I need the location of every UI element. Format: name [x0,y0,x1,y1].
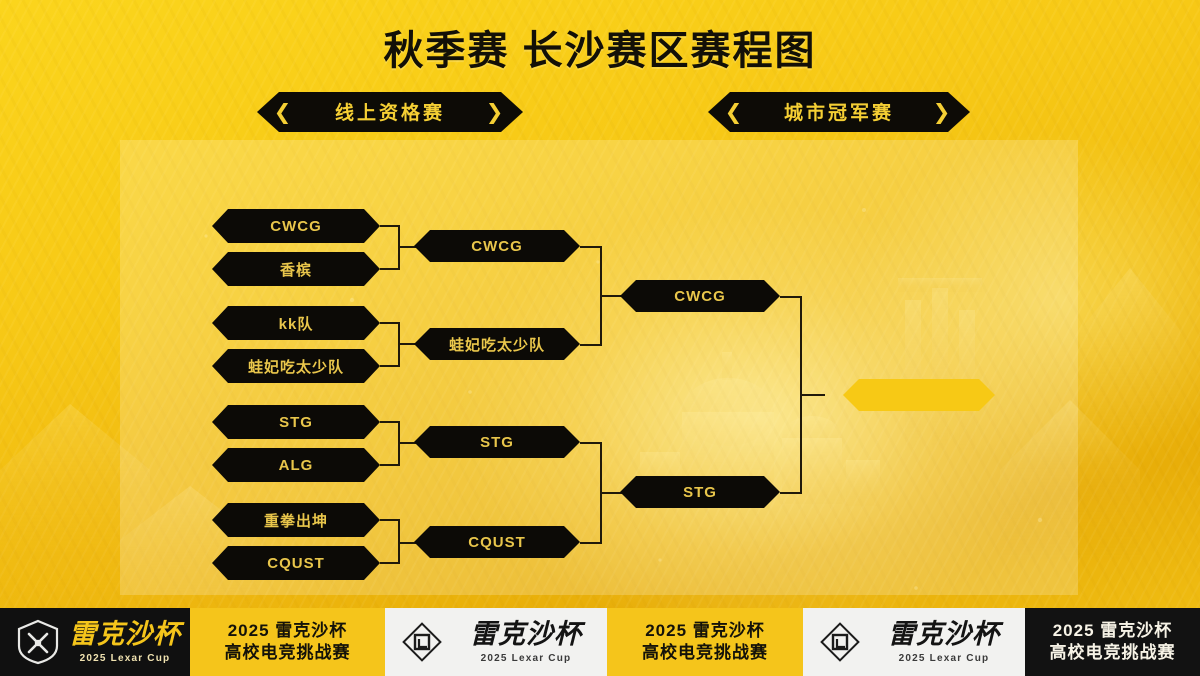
connector [380,421,400,423]
diamond-emblem-icon [401,619,445,665]
bracket-node-champion[interactable] [843,379,995,411]
footer-title-line2: 高校电竞挑战赛 [642,642,768,664]
connector [398,343,416,345]
lexar-logo-en: 2025 Lexar Cup [80,653,171,664]
connector [380,225,400,227]
footer-logo-segment-2: 雷克沙杯 2025 Lexar Cup [385,608,607,676]
footer-logo-segment-1: 雷克沙杯 2025 Lexar Cup [0,608,190,676]
bracket-node-r2-3[interactable]: STG [414,426,580,458]
lexar-logo-en: 2025 Lexar Cup [899,653,990,664]
footer-title-line1: 2025 雷克沙杯 [645,620,765,642]
connector [780,492,802,494]
bracket-node-r2-4[interactable]: CQUST [414,526,580,558]
connector [380,519,400,521]
lexar-logo-cn: 雷克沙杯 [470,621,582,648]
bracket-node-r1-2[interactable]: 香槟 [212,252,380,286]
section-banner-label: 线上资格赛 [301,98,479,125]
bracket-node-r3-1[interactable]: CWCG [620,280,780,312]
footer-title-line1: 2025 雷克沙杯 [228,620,348,642]
section-banner-label: 城市冠军赛 [750,98,928,125]
footer-title-line2: 高校电竞挑战赛 [225,642,351,664]
connector [580,542,602,544]
connector [600,492,622,494]
connector [380,562,400,564]
connector [398,542,416,544]
connector [380,322,400,324]
chevron-left-icon: ❮ [722,92,748,132]
connector [600,295,622,297]
bracket-node-r1-8[interactable]: CQUST [212,546,380,580]
connector [580,344,602,346]
bracket-node-r1-5[interactable]: STG [212,405,380,439]
chevron-right-icon: ❯ [483,92,509,132]
page-title: 秋季赛 长沙赛区赛程图 [0,18,1200,76]
connector [580,442,602,444]
shield-crossed-swords-icon [16,619,60,665]
footer-text-segment-2: 2025 雷克沙杯 高校电竞挑战赛 [607,608,803,676]
lexar-cup-logo: 雷克沙杯 2025 Lexar Cup [60,621,190,664]
connector [580,246,602,248]
lexar-logo-cn: 雷克沙杯 [69,621,181,648]
footer-title-line1: 2025 雷克沙杯 [1053,620,1173,642]
section-banner-online-qualifier: ❮ 线上资格赛 ❯ [257,92,523,132]
chevron-right-icon: ❯ [930,92,956,132]
bracket-node-r1-7[interactable]: 重拳出坤 [212,503,380,537]
connector [380,268,400,270]
lexar-logo-cn: 雷克沙杯 [888,621,1000,648]
connector [380,365,400,367]
connector [380,464,400,466]
connector [398,246,416,248]
sponsor-footer: 雷克沙杯 2025 Lexar Cup 2025 雷克沙杯 高校电竞挑战赛 雷克… [0,608,1200,676]
chevron-left-icon: ❮ [271,92,297,132]
section-banner-city-championship: ❮ 城市冠军赛 ❯ [708,92,970,132]
footer-title-line2: 高校电竞挑战赛 [1050,642,1176,664]
connector [398,442,416,444]
footer-text-segment-3: 2025 雷克沙杯 高校电竞挑战赛 [1025,608,1200,676]
bracket-node-r2-1[interactable]: CWCG [414,230,580,262]
footer-text-segment-1: 2025 雷克沙杯 高校电竞挑战赛 [190,608,385,676]
bracket-node-r1-4[interactable]: 蛙妃吃太少队 [212,349,380,383]
bracket-node-r1-1[interactable]: CWCG [212,209,380,243]
bracket-node-r2-2[interactable]: 蛙妃吃太少队 [414,328,580,360]
lexar-logo-en: 2025 Lexar Cup [481,653,572,664]
lexar-cup-logo: 雷克沙杯 2025 Lexar Cup [445,621,607,664]
bracket-node-r1-6[interactable]: ALG [212,448,380,482]
connector [800,394,825,396]
bracket-panel: CWCG 香槟 kk队 蛙妃吃太少队 STG ALG 重拳出坤 CQUST CW… [120,140,1078,595]
connector [780,296,802,298]
lexar-cup-logo: 雷克沙杯 2025 Lexar Cup [863,621,1025,664]
bracket-node-r1-3[interactable]: kk队 [212,306,380,340]
diamond-emblem-icon [819,619,863,665]
footer-logo-segment-3: 雷克沙杯 2025 Lexar Cup [803,608,1025,676]
bracket-node-r3-2[interactable]: STG [620,476,780,508]
